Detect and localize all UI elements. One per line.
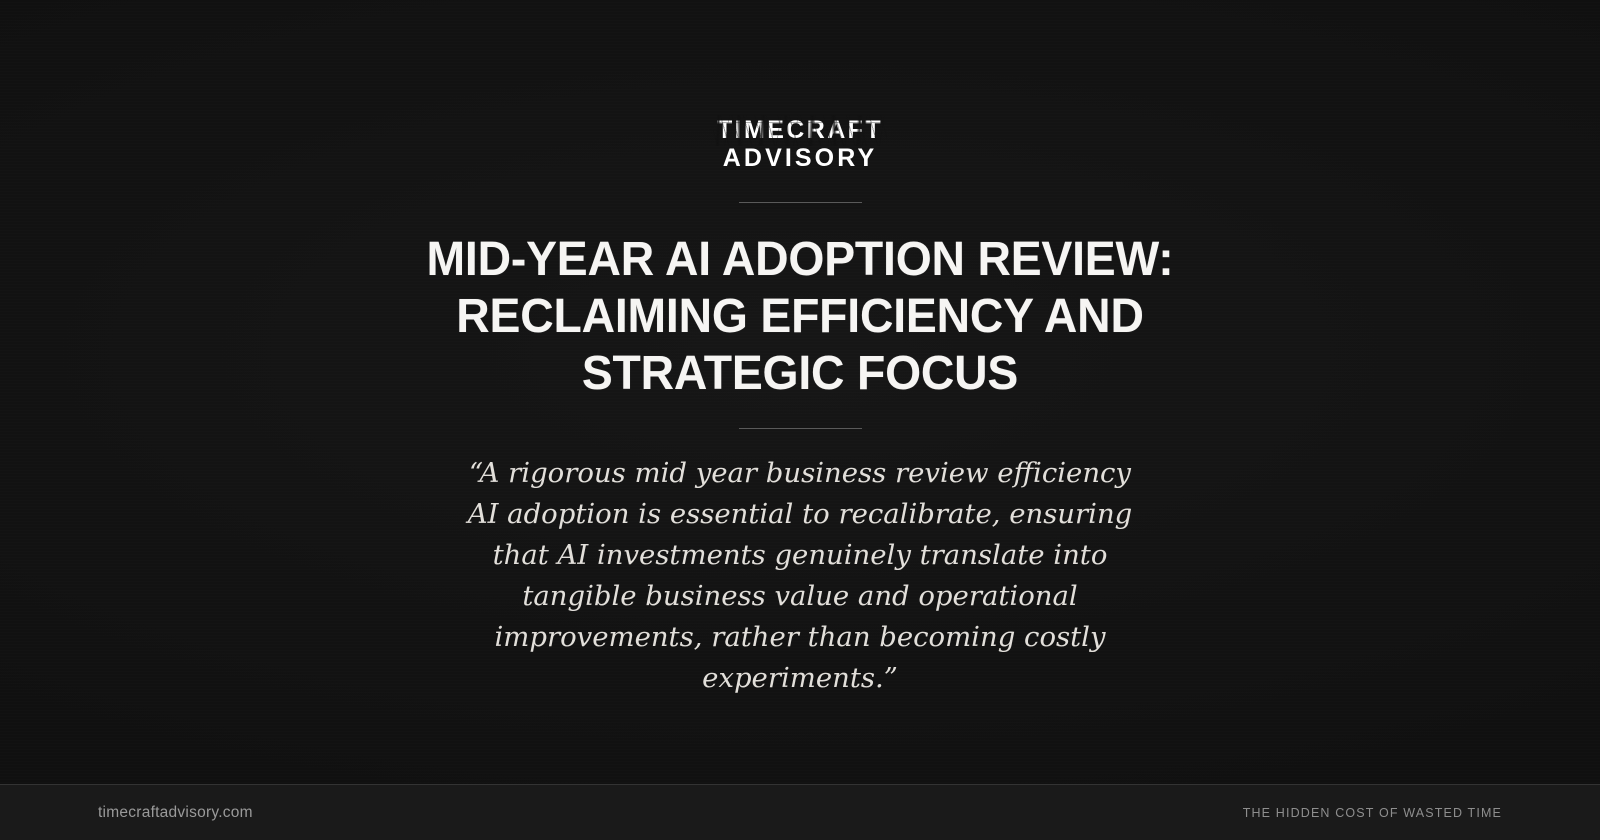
brand-logo[interactable]: TIMECRAFT ADVISORY bbox=[717, 118, 883, 171]
slide-content: TIMECRAFT ADVISORY Mid-Year AI Adoption … bbox=[0, 0, 1600, 776]
divider-under-title bbox=[739, 428, 862, 429]
footer-tagline: THE HIDDEN COST OF WASTED TIME bbox=[1243, 806, 1502, 820]
title-slide: TIMECRAFT ADVISORY Mid-Year AI Adoption … bbox=[0, 0, 1600, 840]
slide-footer: timecraftadvisory.com THE HIDDEN COST OF… bbox=[0, 784, 1600, 840]
logo-word-advisory: ADVISORY bbox=[723, 145, 877, 171]
footer-website-url[interactable]: timecraftadvisory.com bbox=[98, 804, 253, 822]
logo-word-timecraft: TIMECRAFT bbox=[717, 118, 883, 145]
pull-quote: “A rigorous mid year business review eff… bbox=[455, 453, 1145, 699]
divider-under-logo bbox=[739, 202, 862, 203]
page-title: Mid-Year AI Adoption Review: Reclaiming … bbox=[351, 231, 1248, 402]
